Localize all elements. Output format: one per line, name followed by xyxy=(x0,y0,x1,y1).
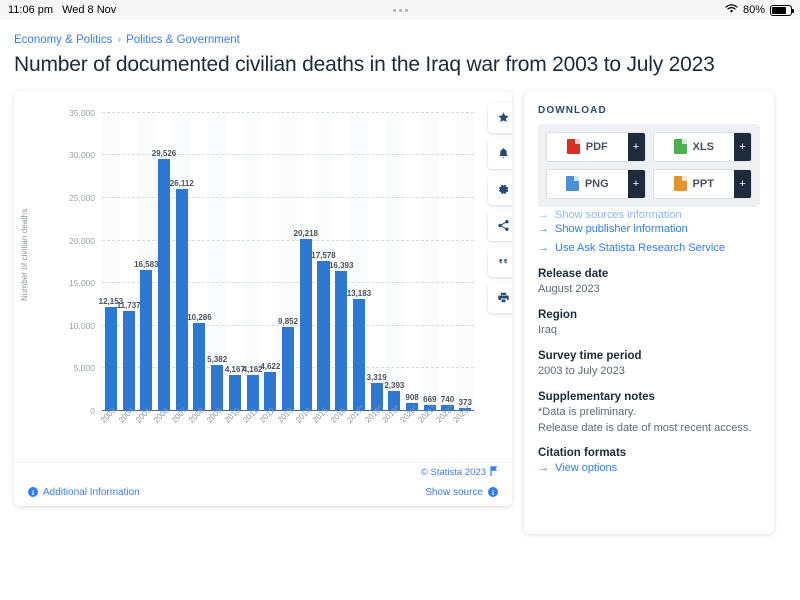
download-pdf-options-button[interactable]: + xyxy=(628,133,645,161)
breadcrumb-separator-icon: › xyxy=(117,34,121,46)
share-icon[interactable] xyxy=(488,211,512,241)
bar-value-label: 5,382 xyxy=(207,355,227,364)
bar[interactable] xyxy=(193,323,205,411)
download-xls-button[interactable]: XLS+ xyxy=(653,132,753,162)
quote-icon[interactable] xyxy=(488,247,512,277)
section-body: *Data is preliminary. xyxy=(538,405,760,421)
breadcrumb-item-politics-government[interactable]: Politics & Government xyxy=(126,34,240,46)
print-icon[interactable] xyxy=(488,283,512,313)
battery-icon xyxy=(770,5,792,16)
bar[interactable] xyxy=(158,159,170,410)
status-bar: 11:06 pm Wed 8 Nov 80% xyxy=(0,0,800,20)
bar-column[interactable]: 4,167 xyxy=(226,113,244,411)
bar-value-label: 4,622 xyxy=(260,362,280,371)
status-bar-left: 11:06 pm Wed 8 Nov xyxy=(8,4,116,16)
bar[interactable] xyxy=(123,311,135,411)
section-heading: Supplementary notes xyxy=(538,391,760,403)
bell-icon[interactable] xyxy=(488,139,512,169)
y-axis-tick-label: 5,000 xyxy=(74,363,95,373)
bar-column[interactable]: 3,319 xyxy=(368,113,386,411)
bar-value-label: 908 xyxy=(405,393,418,402)
download-ppt-options-button[interactable]: + xyxy=(734,170,751,198)
copyright-text: © Statista 2023 xyxy=(421,467,486,478)
bar-column[interactable]: 5,382 xyxy=(208,113,226,411)
bar-value-label: 9,852 xyxy=(278,317,298,326)
bar-value-label: 740 xyxy=(441,395,454,404)
download-title: DOWNLOAD xyxy=(538,105,760,116)
bar[interactable] xyxy=(353,299,365,411)
section-body: August 2023 xyxy=(538,282,760,298)
show-source-link[interactable]: Show source i xyxy=(425,487,498,498)
info-link[interactable]: →Show publisher information xyxy=(538,222,760,238)
multitask-dots-icon[interactable] xyxy=(393,9,408,12)
bar-column[interactable]: 10,286 xyxy=(191,113,209,411)
bar[interactable] xyxy=(211,365,223,411)
page-title: Number of documented civilian deaths in … xyxy=(0,46,800,79)
bar[interactable] xyxy=(140,270,152,411)
bar-column[interactable]: 16,393 xyxy=(332,113,350,411)
arrow-right-icon: → xyxy=(538,222,549,238)
arrow-right-icon: → xyxy=(538,461,549,477)
y-axis-tick-label: 10,000 xyxy=(69,321,95,331)
breadcrumb-item-economy-politics[interactable]: Economy & Politics xyxy=(14,34,112,46)
section-heading: Citation formats xyxy=(538,447,760,459)
download-pdf-button[interactable]: PDF+ xyxy=(546,132,646,162)
y-axis-tick-label: 35,000 xyxy=(69,108,95,118)
y-axis-tick-label: 15,000 xyxy=(69,278,95,288)
info-link[interactable]: →Use Ask Statista Research Service xyxy=(538,241,760,257)
show-source-label: Show source xyxy=(425,487,483,498)
pdf-file-icon xyxy=(567,139,580,154)
additional-information-link[interactable]: i Additional Information xyxy=(28,487,140,498)
battery-percent: 80% xyxy=(743,4,765,16)
bar[interactable] xyxy=(282,327,294,411)
download-png-main[interactable]: PNG xyxy=(547,170,628,198)
info-link-label: Show sources information xyxy=(555,208,682,219)
section-body: 2003 to July 2023 xyxy=(538,364,760,380)
y-axis-tick-label: 25,000 xyxy=(69,193,95,203)
section-heading: Region xyxy=(538,309,760,321)
copyright-notice: © Statista 2023 xyxy=(421,466,498,479)
ppt-file-icon xyxy=(674,176,687,191)
content-area: Number of civilian deaths 05,00010,00015… xyxy=(0,79,800,534)
info-card: DOWNLOAD PDF+XLS+PNG+PPT+ →Show sources … xyxy=(524,91,774,534)
wifi-icon xyxy=(725,4,738,17)
page-container: Economy & Politics › Politics & Governme… xyxy=(0,20,800,600)
bar-value-label: 2,393 xyxy=(384,381,404,390)
bar-column[interactable]: 669 xyxy=(421,113,439,411)
section-heading: Survey time period xyxy=(538,350,760,362)
breadcrumb: Economy & Politics › Politics & Governme… xyxy=(0,20,800,46)
bar-column[interactable]: 9,852 xyxy=(279,113,297,411)
download-png-options-button[interactable]: + xyxy=(628,170,645,198)
xls-file-icon xyxy=(674,139,687,154)
bar-series: 12,15311,73716,58329,52626,11210,2865,38… xyxy=(102,113,474,411)
bar-column[interactable]: 13,183 xyxy=(350,113,368,411)
bar-column[interactable]: 20,218 xyxy=(297,113,315,411)
citation-view-options-label: View options xyxy=(555,461,617,477)
chart-toolbar xyxy=(488,103,512,313)
y-axis-tick-label: 30,000 xyxy=(69,150,95,160)
info-icon: i xyxy=(28,487,38,497)
download-pdf-main[interactable]: PDF xyxy=(547,133,628,161)
download-pdf-label: PDF xyxy=(586,141,608,153)
plot-area: 05,00010,00015,00020,00025,00030,00035,0… xyxy=(102,113,474,411)
additional-information-label: Additional Information xyxy=(43,487,140,498)
status-date: Wed 8 Nov xyxy=(62,4,116,16)
bar-column[interactable]: 26,112 xyxy=(173,113,191,411)
bar-value-label: 669 xyxy=(423,395,436,404)
chart-footer: © Statista 2023 i Additional Information… xyxy=(14,462,512,506)
info-sections: Release dateAugust 2023RegionIraqSurvey … xyxy=(538,268,760,478)
arrow-right-icon: → xyxy=(538,241,549,257)
bar[interactable] xyxy=(335,271,347,411)
y-axis-tick-label: 20,000 xyxy=(69,236,95,246)
flag-icon[interactable] xyxy=(490,466,498,479)
info-link[interactable]: →Show sources information xyxy=(538,208,760,219)
bar[interactable] xyxy=(176,189,188,411)
status-time: 11:06 pm xyxy=(8,4,53,16)
bar-column[interactable]: 908 xyxy=(403,113,421,411)
bar[interactable] xyxy=(105,307,117,410)
bar-column[interactable]: 29,526 xyxy=(155,113,173,411)
x-axis-tick: 2023* xyxy=(456,413,474,453)
info-link-label: Show publisher information xyxy=(555,222,688,238)
download-xls-main[interactable]: XLS xyxy=(654,133,735,161)
gear-icon[interactable] xyxy=(488,175,512,205)
download-xls-label: XLS xyxy=(693,141,714,153)
bar-column[interactable]: 2,393 xyxy=(386,113,404,411)
png-file-icon xyxy=(566,176,579,191)
download-buttons: PDF+XLS+PNG+PPT+ xyxy=(538,124,760,207)
info-icon: i xyxy=(488,487,498,497)
right-column: DOWNLOAD PDF+XLS+PNG+PPT+ →Show sources … xyxy=(524,91,774,534)
download-ppt-button[interactable]: PPT+ xyxy=(653,169,753,199)
bar-column[interactable]: 4,622 xyxy=(261,113,279,411)
section-heading: Release date xyxy=(538,268,760,280)
status-bar-right: 80% xyxy=(725,4,792,17)
chart-card: Number of civilian deaths 05,00010,00015… xyxy=(14,91,512,506)
bar[interactable] xyxy=(300,239,312,411)
download-xls-options-button[interactable]: + xyxy=(734,133,751,161)
x-axis-labels: 2003200420052006200720082009201020112012… xyxy=(102,413,474,453)
y-axis-title: Number of civilian deaths xyxy=(20,209,29,301)
citation-view-options-link[interactable]: →View options xyxy=(538,461,760,477)
bar-column[interactable]: 12,153 xyxy=(102,113,120,411)
section-body: Iraq xyxy=(538,323,760,339)
y-axis-tick-label: 0 xyxy=(90,406,95,416)
bar[interactable] xyxy=(317,261,329,411)
info-link-label: Use Ask Statista Research Service xyxy=(555,241,725,257)
favorite-star-icon[interactable] xyxy=(488,103,512,133)
bar-column[interactable]: 740 xyxy=(439,113,457,411)
bar-column[interactable]: 4,162 xyxy=(244,113,262,411)
bar-column[interactable]: 373 xyxy=(456,113,474,411)
section-body: Release date is date of most recent acce… xyxy=(538,421,760,437)
download-png-button[interactable]: PNG+ xyxy=(546,169,646,199)
arrow-right-icon: → xyxy=(538,208,549,219)
download-png-label: PNG xyxy=(585,178,609,190)
download-ppt-label: PPT xyxy=(693,178,714,190)
download-ppt-main[interactable]: PPT xyxy=(654,170,735,198)
status-bar-center xyxy=(0,9,800,12)
info-links: →Show sources information→Show publisher… xyxy=(538,208,760,257)
chart-body: Number of civilian deaths 05,00010,00015… xyxy=(14,91,512,463)
